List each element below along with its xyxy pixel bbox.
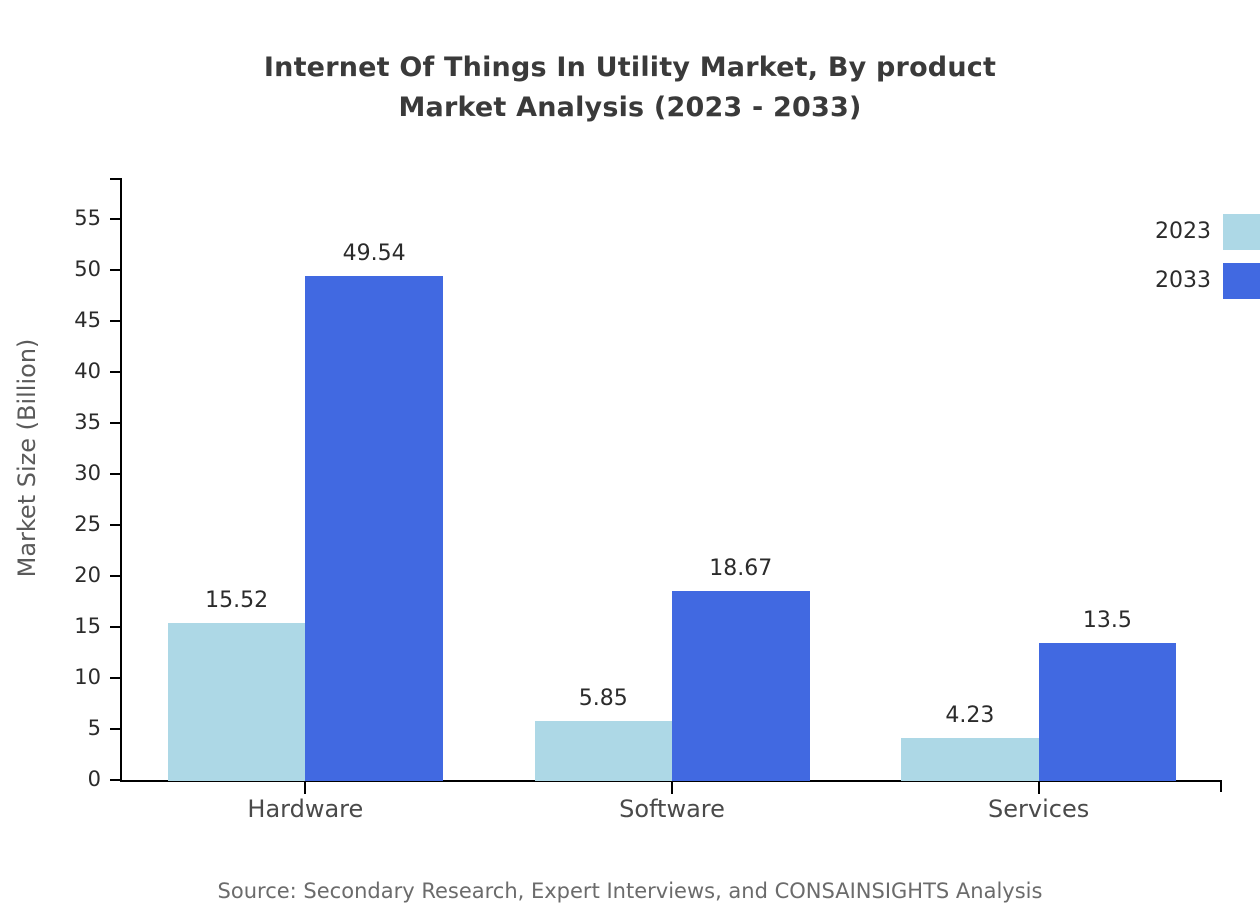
y-tick-label: 40 xyxy=(74,361,110,382)
y-axis-top-cap xyxy=(110,178,122,180)
y-tick-mark xyxy=(110,218,122,220)
y-tick-mark xyxy=(110,728,122,730)
bar-services-2033[interactable] xyxy=(1039,643,1177,781)
y-tick-label: 5 xyxy=(88,718,110,739)
x-tick-mark xyxy=(671,782,673,794)
y-tick-label: 15 xyxy=(74,616,110,637)
y-tick-mark xyxy=(110,677,122,679)
bar-hardware-2033[interactable] xyxy=(305,276,443,781)
y-tick-label: 0 xyxy=(88,769,110,790)
y-tick-label: 35 xyxy=(74,412,110,433)
bar-value-label-software-2033: 18.67 xyxy=(709,557,772,581)
y-tick-label: 55 xyxy=(74,208,110,229)
page-title-line-1: Internet Of Things In Utility Market, By… xyxy=(0,48,1260,88)
y-tick-mark xyxy=(110,269,122,271)
x-axis-right-cap xyxy=(1220,780,1222,792)
legend: 20232033 xyxy=(1100,214,1260,304)
x-tick-label-services: Services xyxy=(988,795,1089,823)
x-tick-mark xyxy=(304,782,306,794)
y-tick-label: 50 xyxy=(74,259,110,280)
bar-value-label-hardware-2023: 15.52 xyxy=(205,589,268,613)
y-tick-mark xyxy=(110,575,122,577)
y-tick-mark xyxy=(110,473,122,475)
plot-area: 15.5249.545.8518.674.2313.5 xyxy=(122,178,1222,781)
chart-page: Internet Of Things In Utility Market, By… xyxy=(0,0,1260,920)
y-tick-label: 30 xyxy=(74,463,110,484)
y-tick-label: 45 xyxy=(74,310,110,331)
legend-swatch-2023 xyxy=(1223,214,1260,250)
source-note: Source: Secondary Research, Expert Inter… xyxy=(0,878,1260,904)
y-tick-mark xyxy=(110,779,122,781)
page-title-line-2: Market Analysis (2023 - 2033) xyxy=(0,88,1260,128)
y-tick-label: 10 xyxy=(74,667,110,688)
bar-value-label-software-2023: 5.85 xyxy=(579,687,628,711)
y-tick-label: 20 xyxy=(74,565,110,586)
bar-value-label-hardware-2033: 49.54 xyxy=(343,242,406,266)
y-axis-title: Market Size (Billion) xyxy=(14,178,40,738)
bar-hardware-2023[interactable] xyxy=(168,623,306,781)
y-tick-mark xyxy=(110,524,122,526)
page-title: Internet Of Things In Utility Market, By… xyxy=(0,48,1260,128)
x-tick-label-software: Software xyxy=(619,795,725,823)
y-tick-mark xyxy=(110,626,122,628)
bar-value-label-services-2033: 13.5 xyxy=(1083,609,1132,633)
legend-swatch-2033 xyxy=(1223,263,1260,299)
y-tick-mark xyxy=(110,371,122,373)
bar-value-label-services-2023: 4.23 xyxy=(945,704,994,728)
bar-software-2033[interactable] xyxy=(672,591,810,781)
legend-label-2033: 2033 xyxy=(1100,269,1211,293)
x-tick-label-hardware: Hardware xyxy=(247,795,363,823)
x-tick-mark xyxy=(1038,782,1040,794)
bar-services-2023[interactable] xyxy=(901,738,1039,781)
y-tick-label: 25 xyxy=(74,514,110,535)
y-tick-mark xyxy=(110,320,122,322)
legend-label-2023: 2023 xyxy=(1100,220,1211,244)
y-tick-mark xyxy=(110,422,122,424)
legend-item-2023[interactable]: 2023 xyxy=(1100,214,1260,250)
legend-item-2033[interactable]: 2033 xyxy=(1100,263,1260,299)
bar-software-2023[interactable] xyxy=(535,721,673,781)
